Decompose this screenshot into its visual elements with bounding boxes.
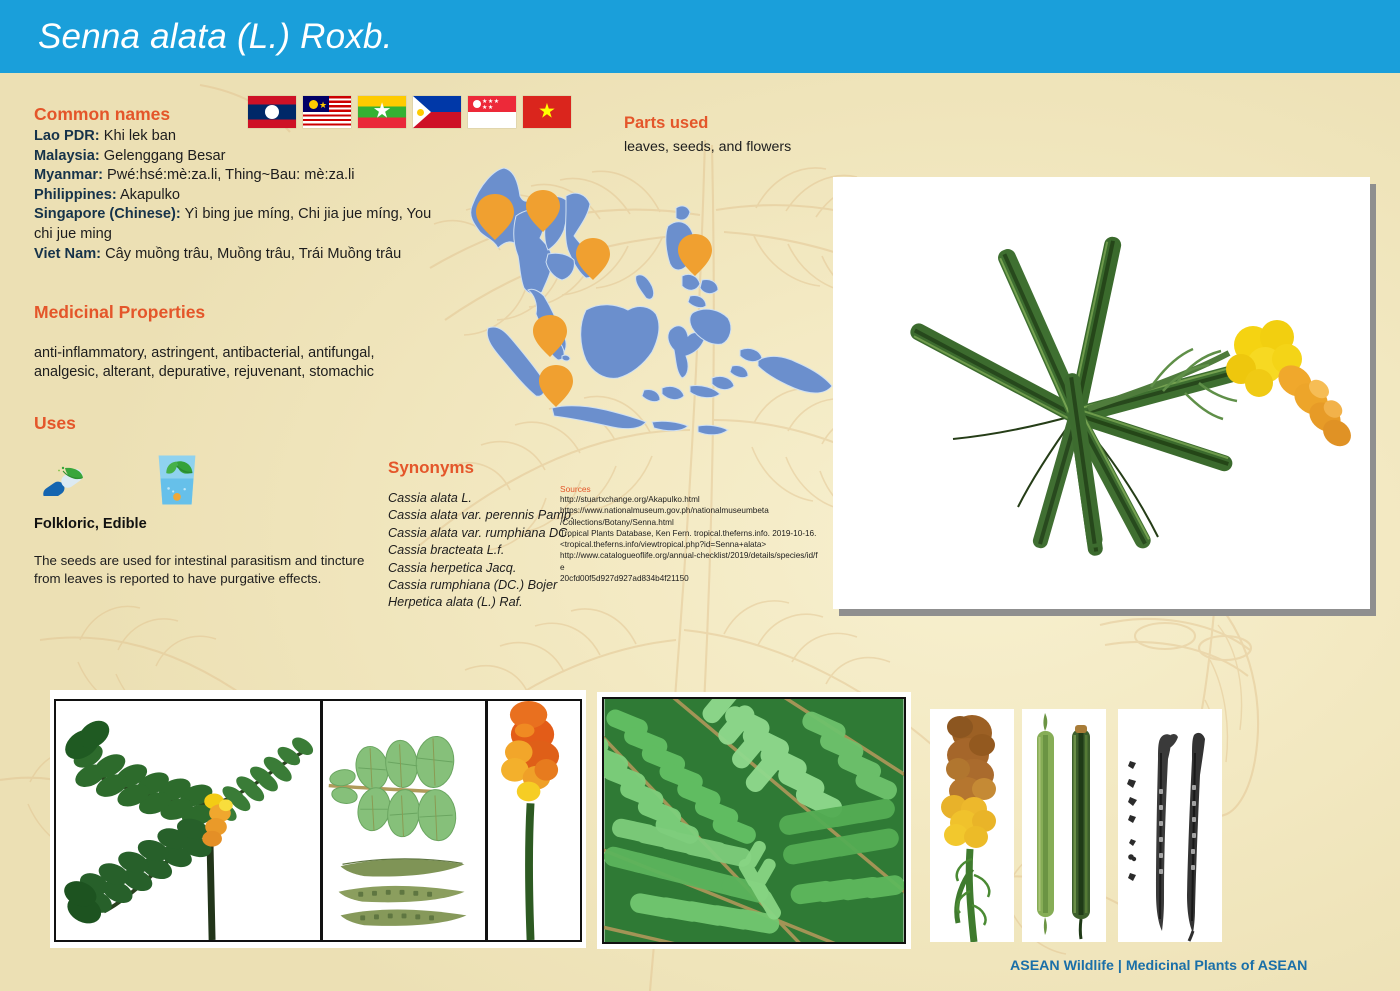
source-item: http://www.catalogueoflife.org/annual-ch…	[560, 550, 820, 573]
medicinal-properties-text: anti-inflammatory, astringent, antibacte…	[34, 344, 404, 382]
sources-section: Sources http://stuartxchange.org/Akapulk…	[560, 484, 820, 584]
dark-pods-and-seeds-illustration	[1118, 709, 1222, 942]
synonym-item: Cassia herpetica Jacq.	[388, 560, 558, 577]
laos-flag	[248, 96, 296, 128]
synonym-item: Cassia alata var. rumphiana DC.	[388, 525, 558, 542]
parts-used-section: Parts used leaves, seeds, and flowers	[624, 114, 854, 155]
uses-heading: Uses	[34, 413, 374, 434]
composite-panel-leaf-and-pods	[321, 699, 487, 942]
medicinal-properties-section: Medicinal Properties anti-inflammatory, …	[34, 302, 404, 382]
main-pods-and-flower-photo	[833, 177, 1370, 609]
sources-heading: Sources	[560, 484, 820, 494]
crescent-moon-icon	[309, 100, 318, 109]
malaysia-flag: ★	[303, 96, 351, 128]
common-name-row: Singapore (Chinese): Yì bing jue míng, C…	[34, 205, 444, 244]
pinnate-leaves-illustration	[604, 699, 904, 942]
synonym-item: Herpetica alata (L.) Raf.	[388, 594, 558, 611]
singapore-flag: ★★★★★	[468, 96, 516, 128]
synonyms-list: Cassia alata L. Cassia alata var. perenn…	[388, 490, 558, 612]
common-name-row: Philippines: Akapulko	[34, 186, 444, 206]
source-item: /Collections/Botany/Senna.html	[560, 517, 820, 528]
myanmar-flag	[358, 96, 406, 128]
footer-right-label: Medicinal Plants of ASEAN	[1126, 958, 1308, 974]
star-icon: ★★★★★	[482, 99, 500, 111]
leaf-closeup-photo	[597, 692, 911, 949]
uses-description: The seeds are used for intestinal parasi…	[34, 552, 374, 587]
poster-canvas: Senna alata (L.) Roxb. Common names Lao …	[0, 0, 1400, 991]
synonyms-heading: Synonyms	[388, 458, 558, 478]
vietnam-flag	[523, 96, 571, 128]
branch-with-flower-illustration	[56, 701, 320, 940]
uses-section: Uses	[34, 413, 374, 587]
country-names: Pwé:hsé:mè:za.li, Thing~Bau: mè:za.li	[107, 167, 355, 183]
source-item: Tropical Plants Database, Ken Fern. trop…	[560, 528, 820, 539]
crescent-moon-icon	[473, 100, 481, 108]
common-name-row: Lao PDR: Khi lek ban	[34, 127, 444, 147]
common-name-row: Malaysia: Gelenggang Besar	[34, 147, 444, 167]
parts-used-text: leaves, seeds, and flowers	[624, 139, 854, 155]
common-names-section: Common names Lao PDR: Khi lek ban Malays…	[34, 104, 444, 264]
header-bar: Senna alata (L.) Roxb.	[0, 0, 1400, 73]
composite-branch-leaf-flower-photo	[50, 690, 586, 948]
parts-used-heading: Parts used	[624, 114, 854, 133]
green-winged-pods-illustration	[1022, 709, 1106, 942]
uses-tags: Folkloric, Edible	[34, 516, 374, 532]
map-marker-philippines	[678, 234, 712, 276]
leaflet-pair-and-pods-illustration	[323, 701, 485, 940]
brown-flower-spike-illustration	[930, 709, 1014, 942]
source-item: https://www.nationalmuseum.gov.ph/nation…	[560, 505, 820, 516]
philippines-flag	[413, 96, 461, 128]
star-icon: ★	[319, 101, 327, 110]
country-label: Malaysia:	[34, 148, 100, 164]
common-name-row: Viet Nam: Cây muồng trâu, Muồng trâu, Tr…	[34, 245, 444, 265]
main-photo-illustration	[833, 177, 1370, 609]
country-names: Cây muồng trâu, Muồng trâu, Trái Muồng t…	[105, 246, 401, 262]
footer-credit: ASEAN Wildlife | Medicinal Plants of ASE…	[1010, 958, 1307, 974]
sun-icon	[417, 109, 424, 116]
glass-leaf-icon	[154, 452, 200, 508]
source-item: <tropical.theferns.info/viewtropical.php…	[560, 539, 820, 550]
footer-left-label: ASEAN Wildlife	[1010, 958, 1114, 974]
country-label: Philippines:	[34, 187, 117, 203]
source-item: 20cfd00f5d927d927ad834b4f21150	[560, 573, 820, 584]
leaf-closeup-frame	[602, 697, 906, 944]
flower-spike-illustration	[488, 701, 580, 940]
common-names-list: Lao PDR: Khi lek ban Malaysia: Gelenggan…	[34, 127, 444, 264]
uses-icon-group	[34, 446, 374, 508]
country-flag-strip: ★ ★★★★★	[248, 96, 571, 128]
medicinal-properties-heading: Medicinal Properties	[34, 302, 404, 323]
country-label: Singapore (Chinese):	[34, 206, 181, 222]
map-marker-malaysia	[539, 365, 573, 407]
synonym-item: Cassia bracteata L.f.	[388, 542, 558, 559]
country-label: Lao PDR:	[34, 128, 100, 144]
footer-separator: |	[1118, 958, 1122, 974]
country-names: Gelenggang Besar	[104, 148, 226, 164]
synonym-item: Cassia alata L.	[388, 490, 558, 507]
green-pods-photo	[1022, 709, 1106, 942]
country-label: Myanmar:	[34, 167, 103, 183]
page-title: Senna alata (L.) Roxb.	[38, 17, 393, 57]
synonym-item: Cassia alata var. perennis Pamp.	[388, 507, 558, 524]
asean-distribution-map	[440, 160, 840, 450]
synonyms-section: Synonyms Cassia alata L. Cassia alata va…	[388, 458, 558, 612]
country-label: Viet Nam:	[34, 246, 101, 262]
composite-panel-branch	[54, 699, 322, 942]
synonym-item: Cassia rumphiana (DC.) Bojer	[388, 577, 558, 594]
source-item: http://stuartxchange.org/Akapulko.html	[560, 494, 820, 505]
flower-spike-photo	[930, 709, 1014, 942]
country-names: Akapulko	[120, 187, 180, 203]
common-name-row: Myanmar: Pwé:hsé:mè:za.li, Thing~Bau: mè…	[34, 166, 444, 186]
capsule-leaf-icon	[37, 466, 89, 496]
mature-pods-seeds-photo	[1118, 709, 1222, 942]
composite-panel-flower-spike	[486, 699, 582, 942]
country-names: Khi lek ban	[104, 128, 176, 144]
